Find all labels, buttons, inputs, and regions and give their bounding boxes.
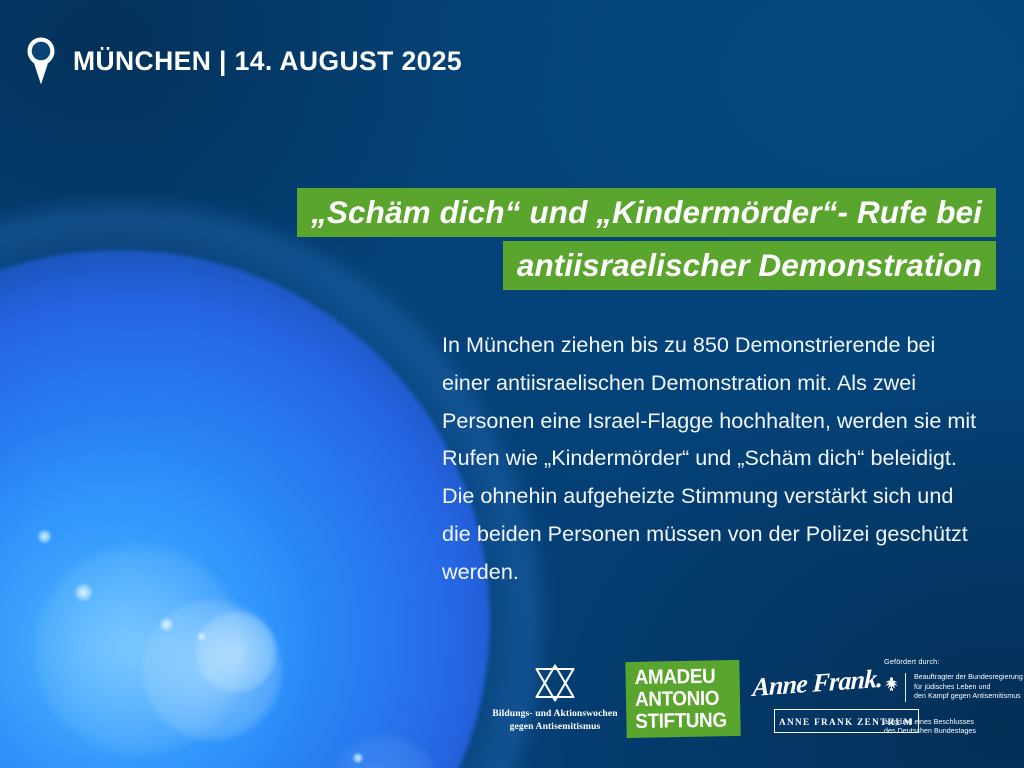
logo-wordmark-line-1: AMADEU (635, 666, 727, 689)
headline-line-1: „Schäm dich“ und „Kindermörder“- Rufe be… (311, 188, 982, 237)
logo-caption: Bildungs- und Aktionswochen gegen Antise… (485, 708, 625, 733)
star-of-david-icon (485, 663, 625, 703)
body-paragraph: In München ziehen bis zu 850 Demonstrier… (442, 326, 987, 591)
header-text: MÜNCHEN | 14. AUGUST 2025 (73, 46, 462, 77)
logo-anne-frank-zentrum: Anne Frank. ANNE FRANK ZENTRUM (752, 673, 882, 733)
logo-amadeu-antonio-stiftung: AMADEU ANTONIO STIFTUNG (625, 660, 740, 738)
logo-caption-line-1: Bildungs- und Aktionswochen (485, 708, 625, 721)
logo-wordmark-line-3: STIFTUNG (636, 710, 728, 733)
location-pin-icon (26, 36, 56, 86)
funding-body: Beauftragter der Bundesregierung für jüd… (884, 673, 1024, 702)
anne-frank-signature: Anne Frank. (752, 664, 883, 703)
funding-authority-text: Beauftragter der Bundesregierung für jüd… (914, 673, 1023, 702)
funding-line-1: Beauftragter der Bundesregierung (914, 673, 1023, 683)
lens-flare-dot (197, 632, 206, 641)
logo-bildungs-aktionswochen: Bildungs- und Aktionswochen gegen Antise… (485, 663, 625, 733)
federal-eagle-icon (884, 673, 899, 696)
lens-flare-dot (38, 530, 51, 543)
funding-footnote-line-2: des Deutschen Bundestages (884, 727, 1024, 737)
lens-flare-dot (75, 584, 92, 601)
funding-footnote: aufgrund eines Beschlusses des Deutschen… (884, 718, 1024, 737)
logo-caption-line-2: gegen Antisemitismus (485, 721, 625, 734)
divider-rule (905, 673, 906, 702)
funded-by-label: Gefördert durch: (884, 657, 1024, 666)
header-location-date: MÜNCHEN | 14. AUGUST 2025 (26, 36, 462, 86)
slide-canvas: MÜNCHEN | 14. AUGUST 2025 „Schäm dich“ u… (0, 0, 1024, 768)
lens-flare-ring-c (196, 612, 276, 692)
logo-bundesregierung-foerderung: Gefördert durch: Beauftragter der Bunde (884, 657, 1024, 737)
funding-footnote-line-1: aufgrund eines Beschlusses (884, 718, 1024, 728)
lens-flare-dot (160, 618, 173, 631)
body-copy: In München ziehen bis zu 850 Demonstrier… (442, 326, 987, 591)
headline: „Schäm dich“ und „Kindermörder“- Rufe be… (218, 186, 982, 292)
logo-wordmark-line-2: ANTONIO (635, 688, 727, 711)
headline-line-2: antiisraelischer Demonstration (517, 241, 982, 290)
funding-line-3: den Kampf gegen Antisemitismus (914, 692, 1023, 702)
funding-line-2: für jüdisches Leben und (914, 683, 1023, 693)
footer-logo-row: Bildungs- und Aktionswochen gegen Antise… (480, 655, 1024, 765)
logo-wordmark: AMADEU ANTONIO STIFTUNG (631, 666, 735, 733)
lens-flare-dot (353, 753, 363, 763)
